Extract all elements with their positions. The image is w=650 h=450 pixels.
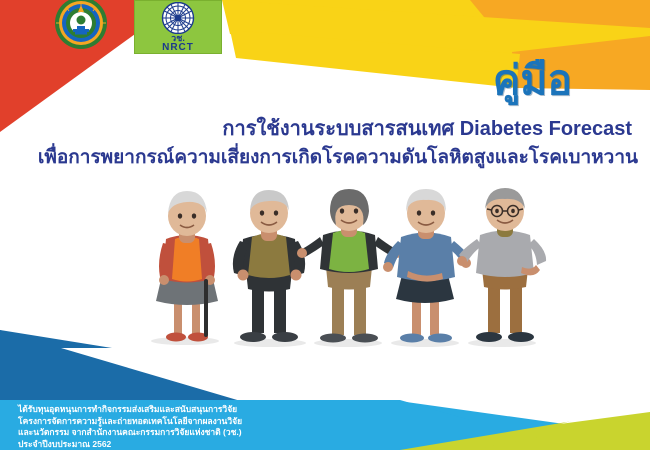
figure-4-sweater [397,233,455,282]
figure-2-hand-left [238,270,249,281]
acknowledgement-line-3: และนวัตกรรม จากสำนักงานคณะกรรมการวิจัยแห… [18,427,438,439]
logo-row: วช. NRCT [0,0,650,60]
figure-2-hand-right [291,270,302,281]
nrct-logo: วช. NRCT [134,0,222,54]
figure-3-hand-left [297,248,307,258]
page-subtitle-secondary: เพื่อการพยากรณ์ความเสี่ยงการเกิดโรคความด… [0,146,638,169]
seal-base-bar [73,29,89,32]
page-title: คู่มือ [493,58,572,102]
acknowledgement-line-1: ได้รับทุนอุดหนุนการทำกิจกรรมส่งเสริมและส… [18,404,438,416]
nrct-english-label: NRCT [162,43,194,53]
figure-2-shoe-left [240,332,266,342]
figure-1-vest [172,237,202,282]
acknowledgement-line-2: โครงการจัดการความรู้และถ่ายทอดเทคโนโลยีจ… [18,416,438,428]
seal-base-bar-2 [75,32,87,35]
figure-3-shoe-left [320,334,346,343]
figure-4 [383,189,471,343]
figure-1-cane [204,279,208,337]
figure-2-shoe-right [272,332,298,342]
figure-1 [156,191,218,342]
seal-pedestal [77,26,85,29]
figure-4-hand-left [383,262,393,272]
figure-5-shoe-left [476,332,502,342]
page-subtitle-primary: การใช้งานระบบสารสนเทศ Diabetes Forecast [0,117,632,141]
figure-4-shoe-right [428,334,452,343]
acknowledgement-text: ได้รับทุนอุดหนุนการทำกิจกรรมส่งเสริมและส… [18,404,438,450]
figure-5-hand-left [457,256,467,266]
acknowledgement-line-4: ประจำปีงบประมาณ 2562 [18,439,438,450]
figure-5-shoe-right [508,332,534,342]
university-seal-logo [48,0,114,56]
cover-page: วช. NRCT คู่มือ การใช้งานระบบสารสนเทศ Di… [0,0,650,450]
figure-4-shoe-left [400,334,424,343]
five-elderly-people-illustration [130,183,550,348]
figure-3-shoe-right [352,334,378,343]
nrct-seal-icon [155,2,201,34]
seal-emblem-circle [77,16,86,25]
figure-1-shoe-left [166,333,186,342]
figure-2 [233,190,305,342]
figure-1-hand-left [159,275,169,285]
